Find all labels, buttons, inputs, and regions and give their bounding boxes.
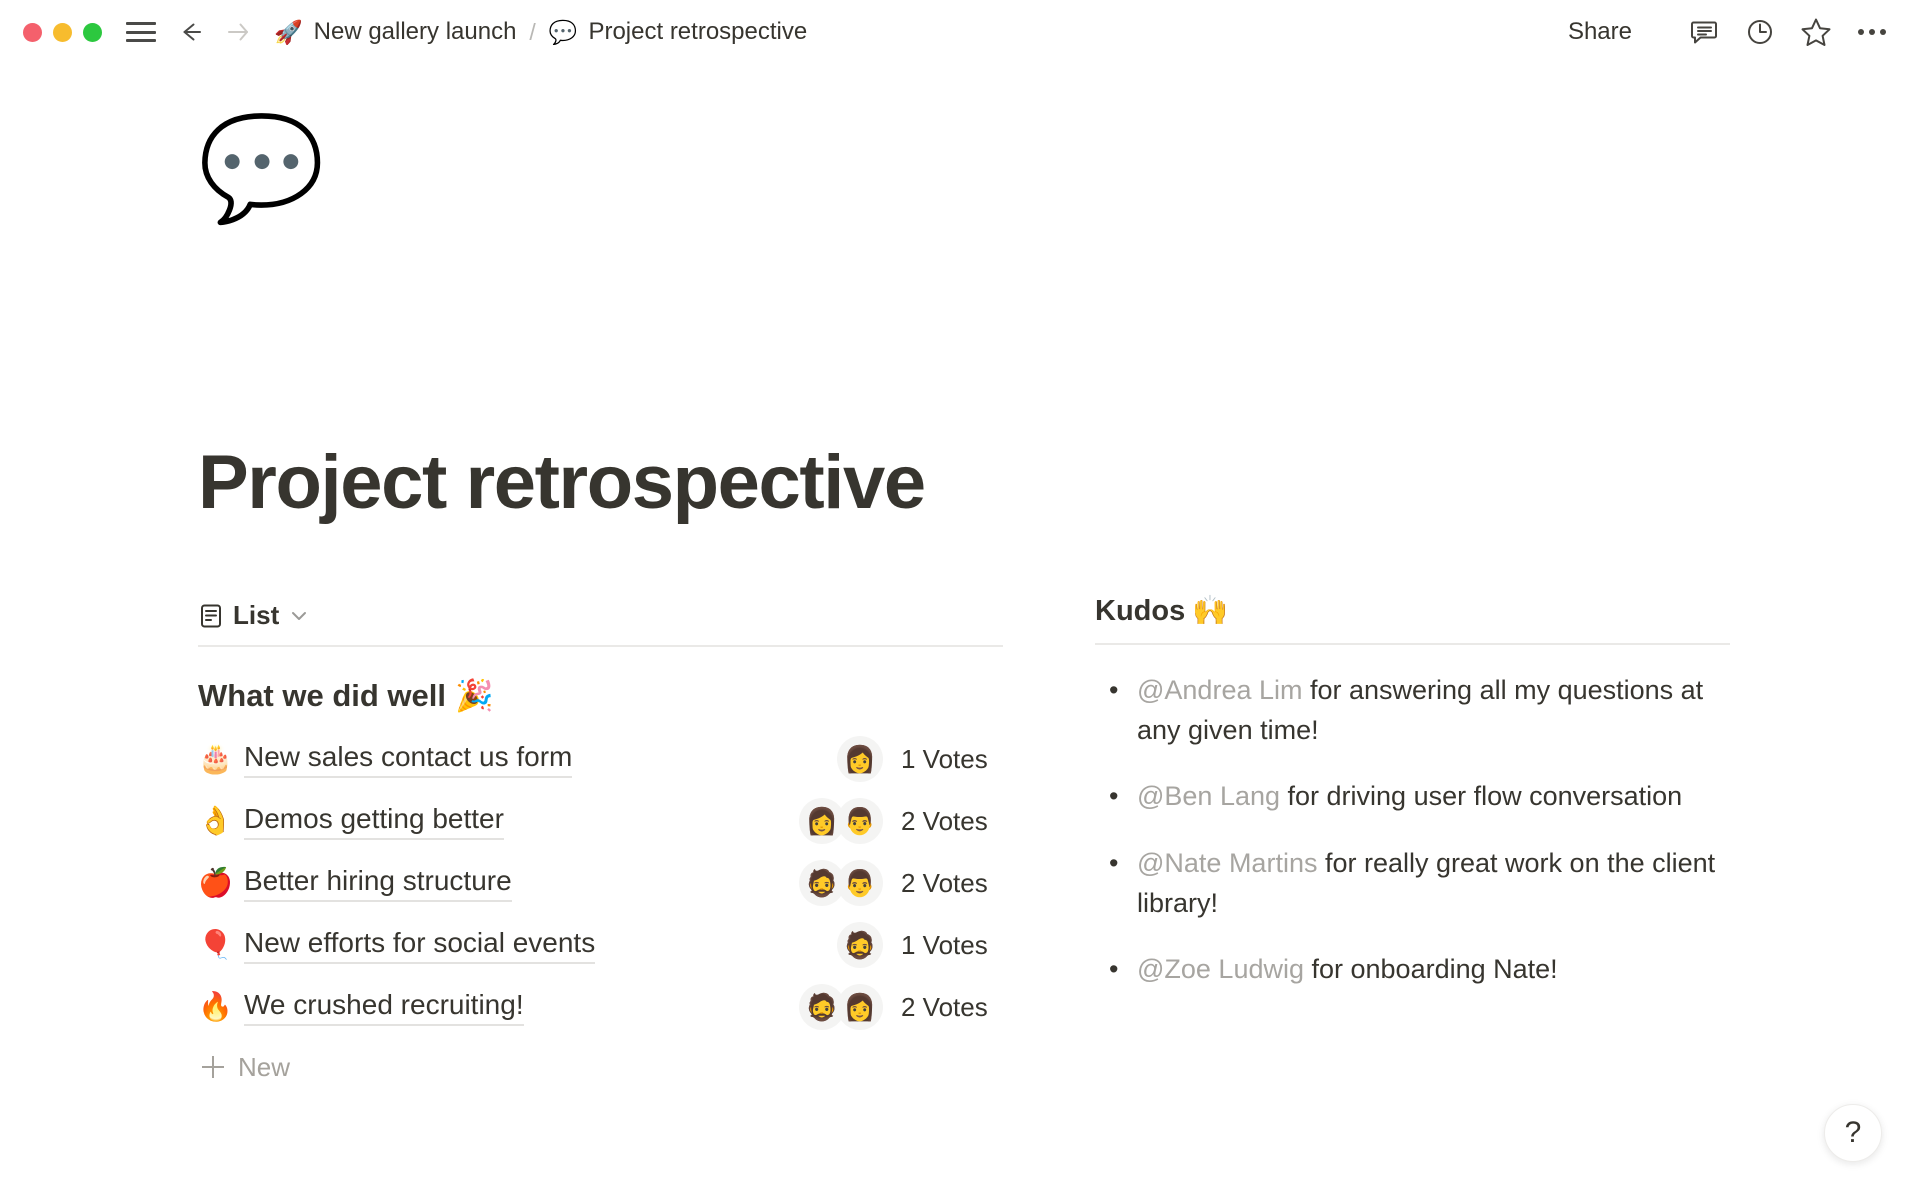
chevron-down-icon — [288, 605, 310, 627]
section-heading[interactable]: What we did well 🎉 — [198, 677, 1003, 714]
list-item-emoji: 🎈 — [198, 931, 244, 959]
plus-icon — [202, 1056, 224, 1078]
list-view-icon — [198, 603, 224, 629]
avatar: 👩 — [837, 984, 883, 1030]
left-column: List What we did well 🎉 🎂New sales conta… — [198, 600, 1003, 1096]
list-item-emoji: 🍎 — [198, 869, 244, 897]
traffic-light-group — [23, 23, 102, 42]
list-item-votes-group: 👩1 Votes — [791, 736, 1003, 782]
history-clock-icon[interactable] — [1738, 10, 1782, 54]
list-item-votes-group: 👩👨2 Votes — [791, 798, 1003, 844]
kudos-list-item: •@Ben Lang for driving user flow convers… — [1095, 777, 1730, 817]
list-items-container: 🎂New sales contact us form👩1 Votes👌Demos… — [198, 728, 1003, 1038]
vote-count: 2 Votes — [901, 806, 988, 837]
maximize-window-button[interactable] — [83, 23, 102, 42]
view-switch-label: List — [233, 600, 279, 631]
avatar: 👩 — [837, 736, 883, 782]
list-item-votes-group: 🧔1 Votes — [791, 922, 1003, 968]
kudos-list-item: •@Nate Martins for really great work on … — [1095, 844, 1730, 923]
party-popper-icon: 🎉 — [455, 677, 494, 714]
vote-count: 1 Votes — [901, 930, 988, 961]
kudos-text: @Ben Lang for driving user flow conversa… — [1137, 777, 1730, 817]
kudos-text: @Zoe Ludwig for onboarding Nate! — [1137, 950, 1730, 990]
star-icon[interactable] — [1794, 10, 1838, 54]
avatar: 👨 — [837, 860, 883, 906]
voter-avatar-stack[interactable]: 🧔👩 — [791, 984, 883, 1030]
kudos-heading: Kudos 🙌 — [1095, 594, 1730, 628]
breadcrumb-separator: / — [529, 19, 535, 46]
list-item[interactable]: 🍎Better hiring structure🧔👨2 Votes — [198, 852, 1003, 914]
breadcrumb-parent-label: New gallery launch — [314, 18, 517, 46]
vote-count: 2 Votes — [901, 992, 988, 1023]
voter-avatar-stack[interactable]: 🧔 — [791, 922, 883, 968]
user-mention[interactable]: @Ben Lang — [1137, 781, 1280, 811]
raising-hands-icon: 🙌 — [1192, 594, 1228, 628]
kudos-list: •@Andrea Lim for answering all my questi… — [1095, 671, 1730, 990]
kudos-heading-label: Kudos — [1095, 595, 1185, 628]
minimize-window-button[interactable] — [53, 23, 72, 42]
list-item-emoji: 🎂 — [198, 745, 244, 773]
list-item-emoji: 🔥 — [198, 993, 244, 1021]
breadcrumb-current-label: Project retrospective — [588, 18, 807, 46]
list-item[interactable]: 🔥We crushed recruiting!🧔👩2 Votes — [198, 976, 1003, 1038]
share-button[interactable]: Share — [1558, 14, 1642, 50]
list-item-title[interactable]: Demos getting better — [244, 803, 504, 840]
list-item-votes-group: 🧔👨2 Votes — [791, 860, 1003, 906]
voter-avatar-stack[interactable]: 👩👨 — [791, 798, 883, 844]
list-item[interactable]: 🎂New sales contact us form👩1 Votes — [198, 728, 1003, 790]
breadcrumb-item-parent[interactable]: 🚀 New gallery launch — [274, 18, 516, 46]
right-column: Kudos 🙌 •@Andrea Lim for answering all m… — [1095, 594, 1730, 1017]
bullet-icon: • — [1095, 844, 1137, 884]
list-item-emoji: 👌 — [198, 807, 244, 835]
voter-avatar-stack[interactable]: 👩 — [791, 736, 883, 782]
kudos-body: for driving user flow conversation — [1280, 781, 1682, 811]
kudos-body: for onboarding Nate! — [1304, 954, 1558, 984]
help-button[interactable]: ? — [1824, 1104, 1882, 1162]
kudos-text: @Nate Martins for really great work on t… — [1137, 844, 1730, 923]
kudos-list-item: •@Andrea Lim for answering all my questi… — [1095, 671, 1730, 750]
breadcrumb: 🚀 New gallery launch / 💬 Project retrosp… — [274, 18, 807, 46]
list-item[interactable]: 👌Demos getting better👩👨2 Votes — [198, 790, 1003, 852]
avatar: 🧔 — [837, 922, 883, 968]
right-column-divider — [1095, 643, 1730, 645]
list-item[interactable]: 🎈New efforts for social events🧔1 Votes — [198, 914, 1003, 976]
bullet-icon: • — [1095, 671, 1137, 711]
page-content: 💬 Project retrospective List What we did… — [0, 64, 1920, 1200]
kudos-text: @Andrea Lim for answering all my questio… — [1137, 671, 1730, 750]
close-window-button[interactable] — [23, 23, 42, 42]
kudos-list-item: •@Zoe Ludwig for onboarding Nate! — [1095, 950, 1730, 990]
add-new-item-label: New — [238, 1052, 290, 1083]
arrow-left-icon[interactable] — [178, 19, 204, 45]
window-titlebar: 🚀 New gallery launch / 💬 Project retrosp… — [0, 0, 1920, 64]
section-heading-label: What we did well — [198, 678, 446, 714]
list-item-title[interactable]: Better hiring structure — [244, 865, 512, 902]
vote-count: 2 Votes — [901, 868, 988, 899]
list-item-title[interactable]: New efforts for social events — [244, 927, 595, 964]
hamburger-menu-icon[interactable] — [126, 21, 156, 43]
user-mention[interactable]: @Nate Martins — [1137, 848, 1317, 878]
user-mention[interactable]: @Andrea Lim — [1137, 675, 1302, 705]
speech-balloon-icon: 💬 — [549, 21, 578, 44]
bullet-icon: • — [1095, 950, 1137, 990]
list-item-title[interactable]: New sales contact us form — [244, 741, 572, 778]
bullet-icon: • — [1095, 777, 1137, 817]
titlebar-actions: Share — [1558, 0, 1894, 64]
voter-avatar-stack[interactable]: 🧔👨 — [791, 860, 883, 906]
more-options-icon[interactable] — [1850, 10, 1894, 54]
page-emoji-icon[interactable]: 💬 — [198, 117, 325, 219]
avatar: 👨 — [837, 798, 883, 844]
list-item-title[interactable]: We crushed recruiting! — [244, 989, 524, 1026]
vote-count: 1 Votes — [901, 744, 988, 775]
rocket-icon: 🚀 — [274, 21, 303, 44]
breadcrumb-item-current[interactable]: 💬 Project retrospective — [549, 18, 807, 46]
list-item-votes-group: 🧔👩2 Votes — [791, 984, 1003, 1030]
add-new-item-button[interactable]: New — [198, 1038, 1003, 1096]
view-switch-list[interactable]: List — [198, 600, 1003, 645]
page-title[interactable]: Project retrospective — [198, 439, 925, 526]
user-mention[interactable]: @Zoe Ludwig — [1137, 954, 1304, 984]
arrow-right-icon[interactable] — [224, 19, 250, 45]
left-column-divider — [198, 645, 1003, 647]
comment-icon[interactable] — [1682, 10, 1726, 54]
